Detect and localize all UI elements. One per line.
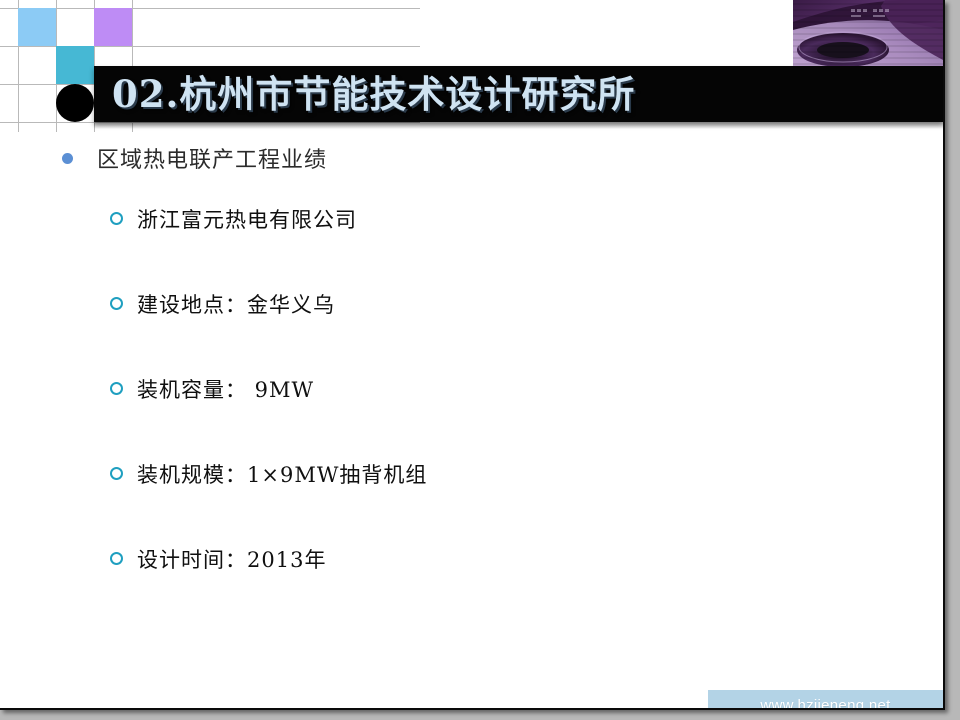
list-item-label: 装机规模：1×9MW抽背机组 xyxy=(137,459,427,489)
content-heading: 区域热电联产工程业绩 xyxy=(0,140,943,176)
list-item-label: 装机容量： 9MW xyxy=(137,374,314,404)
decor-square-teal xyxy=(56,46,94,84)
decor-square-purple xyxy=(94,8,132,46)
page-title: 02.杭州市节能技术设计研究所 xyxy=(112,68,635,120)
footer-url-bar: www.hzjieneng.net xyxy=(708,690,943,710)
footer-url-label: www.hzjieneng.net xyxy=(760,697,890,711)
list-item: 装机容量： 9MW xyxy=(0,346,943,431)
list-item: 设计时间：2013年 xyxy=(0,516,943,601)
grid-line xyxy=(0,8,420,9)
slide-title-bar-shadow xyxy=(94,122,943,129)
list-item: 装机规模：1×9MW抽背机组 xyxy=(0,431,943,516)
list-item: 建设地点：金华义乌 xyxy=(0,261,943,346)
hollow-ring-icon xyxy=(110,212,123,225)
list-item-label: 设计时间：2013年 xyxy=(137,544,326,574)
content-heading-label: 区域热电联产工程业绩 xyxy=(97,142,327,174)
list-item-label: 建设地点：金华义乌 xyxy=(137,289,335,319)
hollow-ring-icon xyxy=(110,552,123,565)
content-item-list: 浙江富元热电有限公司 建设地点：金华义乌 装机容量： 9MW 装机规模：1×9M… xyxy=(0,176,943,601)
slide-content: 区域热电联产工程业绩 浙江富元热电有限公司 建设地点：金华义乌 装机容量： 9M… xyxy=(0,132,943,601)
slide-canvas: 02.杭州市节能技术设计研究所 区域热电联产工程业绩 浙江富元热电有限公司 建设… xyxy=(0,0,945,710)
hollow-ring-icon xyxy=(110,467,123,480)
hollow-ring-icon xyxy=(110,382,123,395)
decor-circle-black xyxy=(56,84,94,122)
list-item-label: 浙江富元热电有限公司 xyxy=(137,204,357,234)
decor-square-light-blue xyxy=(18,8,56,46)
list-item: 浙江富元热电有限公司 xyxy=(0,176,943,261)
filled-dot-icon xyxy=(62,153,73,164)
slide-root: 02.杭州市节能技术设计研究所 区域热电联产工程业绩 浙江富元热电有限公司 建设… xyxy=(0,0,960,720)
hollow-ring-icon xyxy=(110,297,123,310)
